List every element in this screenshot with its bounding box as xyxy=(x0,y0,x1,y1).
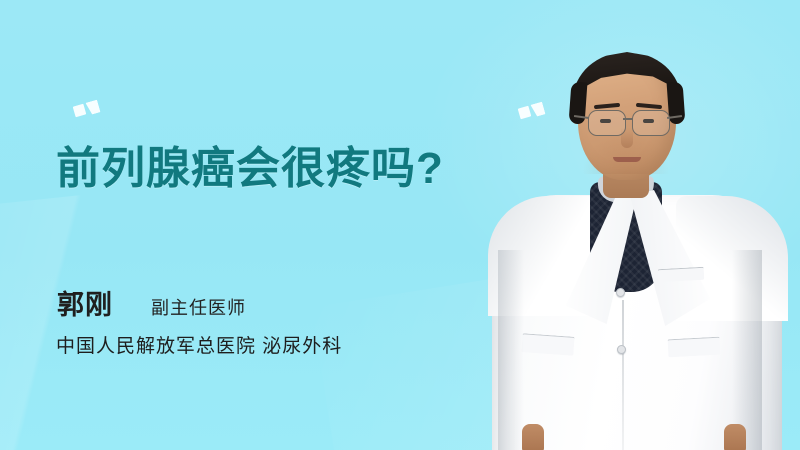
nose xyxy=(621,128,633,148)
doctor-name: 郭刚 xyxy=(57,283,113,322)
doctor-professional-title: 副主任医师 xyxy=(151,294,246,320)
hand-right xyxy=(724,424,746,450)
lab-coat-seam xyxy=(622,300,624,450)
lab-coat-button-top xyxy=(616,288,625,297)
doctor-name-row: 郭刚 副主任医师 xyxy=(57,283,246,322)
doctor-portrait-photo xyxy=(470,0,800,450)
lab-coat-pocket-right xyxy=(668,337,721,358)
lab-coat-chest-pocket xyxy=(658,267,705,282)
video-thumbnail-card: 前列腺癌会很疼吗? 郭刚 副主任医师 中国人民解放军总医院 泌尿外科 xyxy=(0,0,800,450)
eyeglasses-lens-right xyxy=(632,110,670,136)
lab-coat-sleeve-right xyxy=(732,250,762,450)
eyeglasses-bridge xyxy=(623,118,633,120)
mouth xyxy=(613,157,641,162)
page-title: 前列腺癌会很疼吗? xyxy=(56,142,444,196)
lab-coat-pocket-left xyxy=(521,333,574,356)
hand-left xyxy=(522,424,544,450)
lab-coat-sleeve-left xyxy=(498,250,524,450)
doctor-affiliation: 中国人民解放军总医院 泌尿外科 xyxy=(56,331,342,358)
lab-coat-button-bottom xyxy=(617,345,626,354)
